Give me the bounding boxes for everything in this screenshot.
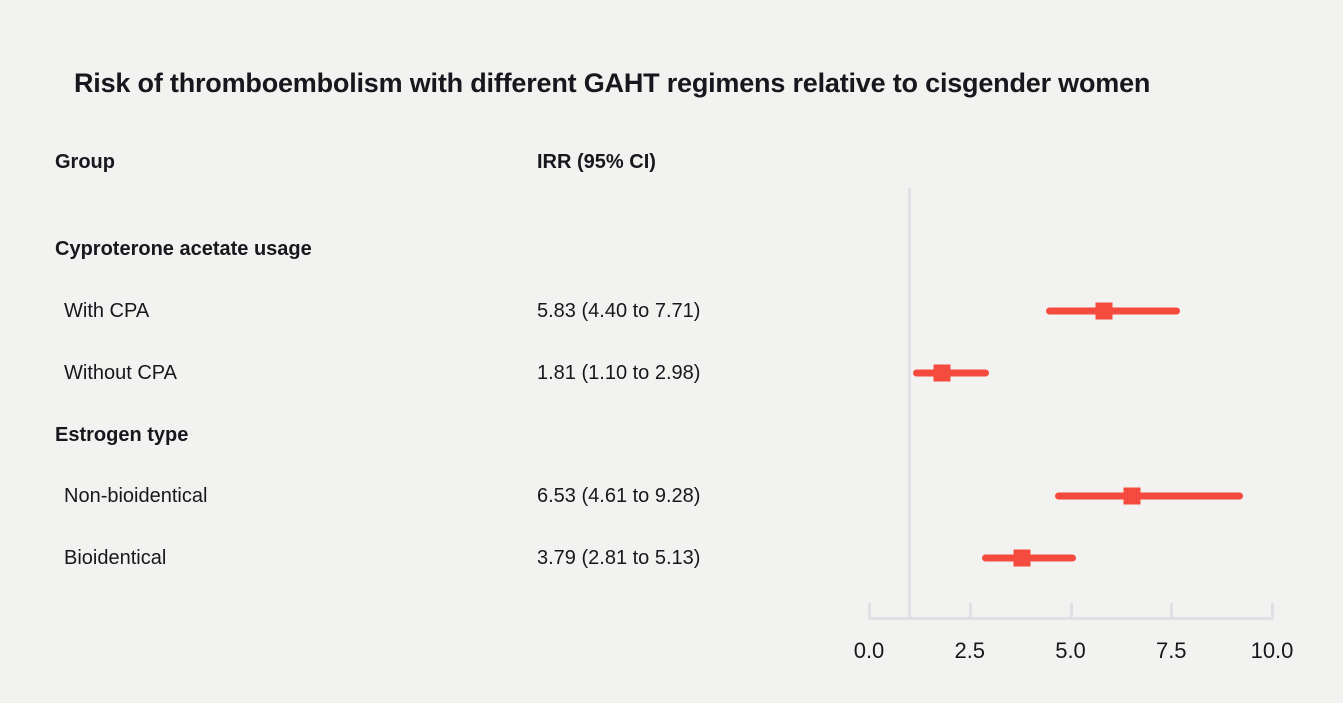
estimate-marker [933,365,950,382]
x-axis-tick [1170,603,1173,617]
row-label: Non-bioidentical [64,484,207,508]
confidence-interval-bar [1055,493,1243,500]
x-axis-tick-label: 0.0 [854,638,885,664]
estimate-marker [1124,488,1141,505]
x-axis-tick [969,603,972,617]
forest-plot-canvas: 0.02.55.07.510.0 [0,0,1343,703]
group-heading: Cyproterone acetate usage [55,237,312,261]
row-value: 3.79 (2.81 to 5.13) [537,546,700,570]
row-label: With CPA [64,299,149,323]
group-heading: Estrogen type [55,423,188,447]
row-value: 6.53 (4.61 to 9.28) [537,484,700,508]
row-label: Bioidentical [64,546,166,570]
confidence-interval-bar [1046,308,1179,315]
column-header-value: IRR (95% CI) [537,150,656,174]
estimate-marker [1095,303,1112,320]
x-axis-tick [1070,603,1073,617]
x-axis-tick-label: 5.0 [1055,638,1086,664]
x-axis-tick [868,603,871,617]
confidence-interval-bar [913,370,989,377]
x-axis-tick-label: 2.5 [954,638,985,664]
row-value: 5.83 (4.40 to 7.71) [537,299,700,323]
x-axis-tick-label: 7.5 [1156,638,1187,664]
figure-title-secondary: relative to cisgender women [785,68,1150,98]
estimate-marker [1013,550,1030,567]
x-axis-tick-label: 10.0 [1251,638,1294,664]
figure-title: Risk of thromboembolism with different G… [74,66,1150,100]
forest-plot-figure: Risk of thromboembolism with different G… [0,0,1343,703]
null-reference-line [908,188,911,617]
x-axis-tick [1271,603,1274,617]
x-axis-line [868,617,1274,620]
row-label: Without CPA [64,361,177,385]
column-header-group: Group [55,150,115,174]
row-value: 1.81 (1.10 to 2.98) [537,361,700,385]
confidence-interval-bar [982,555,1075,562]
figure-title-primary: Risk of thromboembolism with different G… [74,68,785,98]
